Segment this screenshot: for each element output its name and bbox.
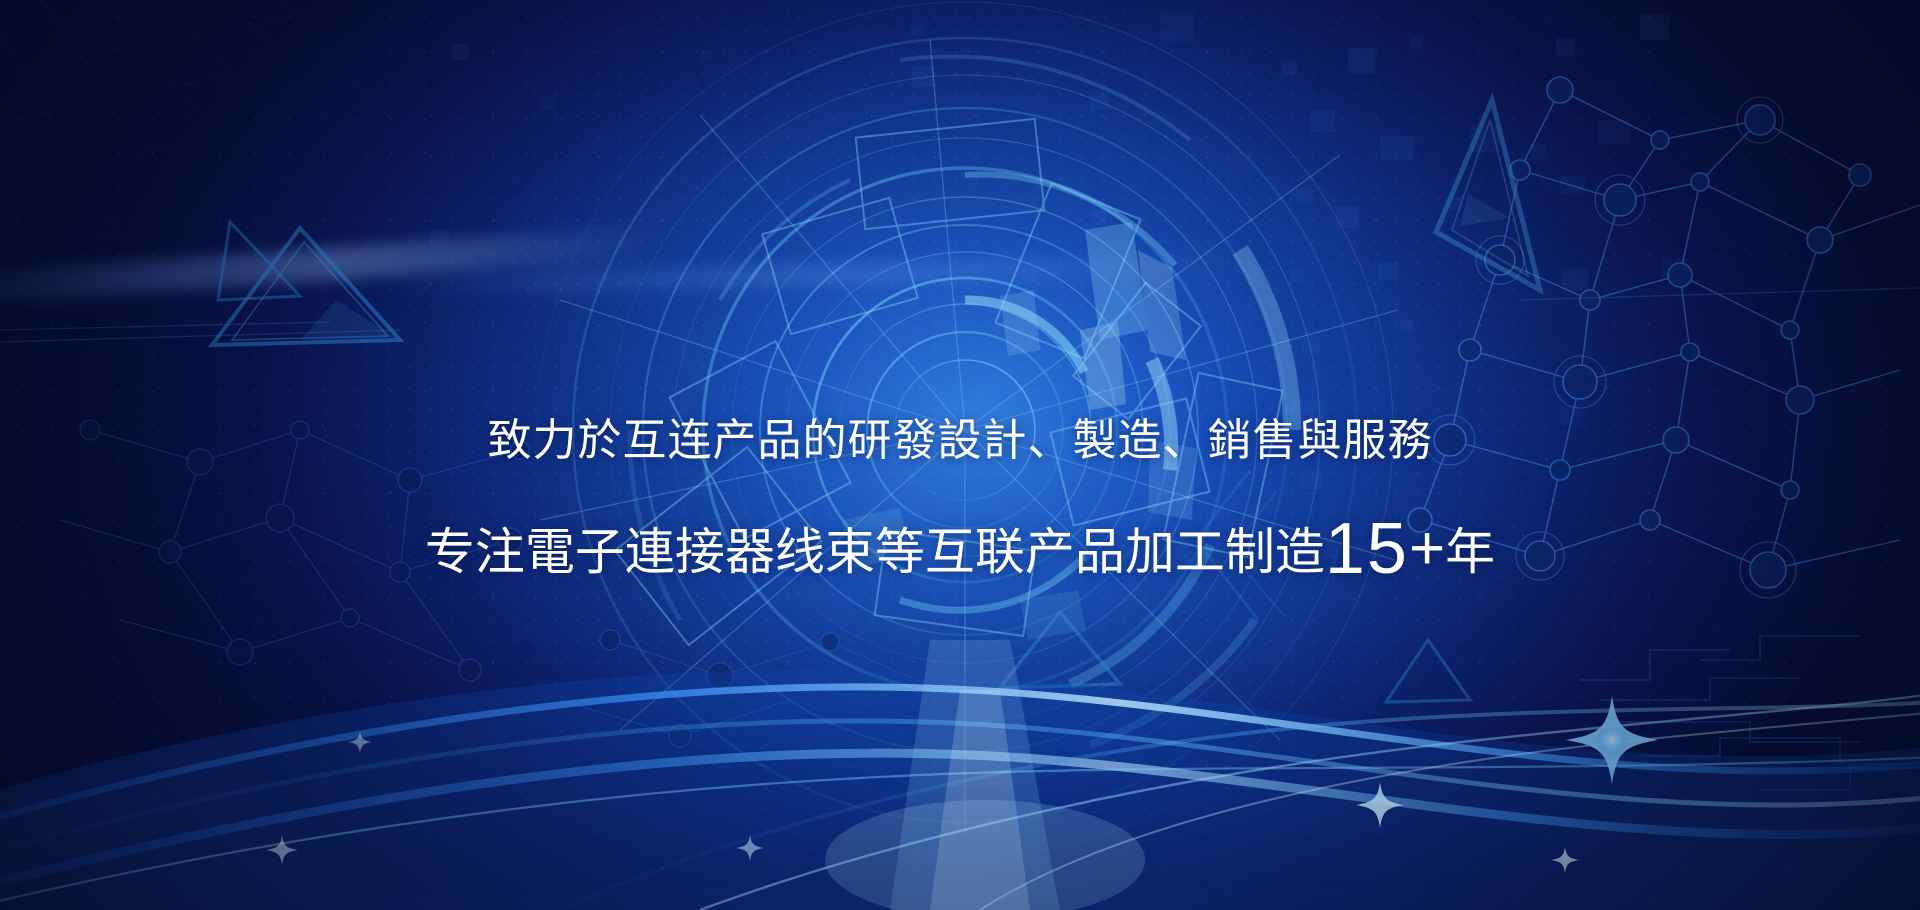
years-number: 15 [1325,509,1409,589]
headline-line-2-suffix: 年 [1445,524,1495,580]
triangle-outline-bottom-left-icon [218,222,300,300]
headline-line-2: 专注電子連接器线束等互联产品加工制造15+年 [0,512,1920,588]
hero-banner: 致力於互连产品的研發設計、製造、銷售與服務 专注電子連接器线束等互联产品加工制造… [0,0,1920,910]
hero-copy: 致力於互连产品的研發設計、製造、銷售與服務 专注電子連接器线束等互联产品加工制造… [0,418,1920,588]
years-plus-sign: + [1409,514,1445,583]
triangle-outline-left-icon [212,228,400,345]
headline-line-2-prefix: 专注電子連接器线束等互联产品加工制造 [425,524,1325,580]
triangle-outline-right-icon [1436,100,1540,290]
headline-line-1: 致力於互连产品的研發設計、製造、銷售與服務 [0,418,1920,464]
